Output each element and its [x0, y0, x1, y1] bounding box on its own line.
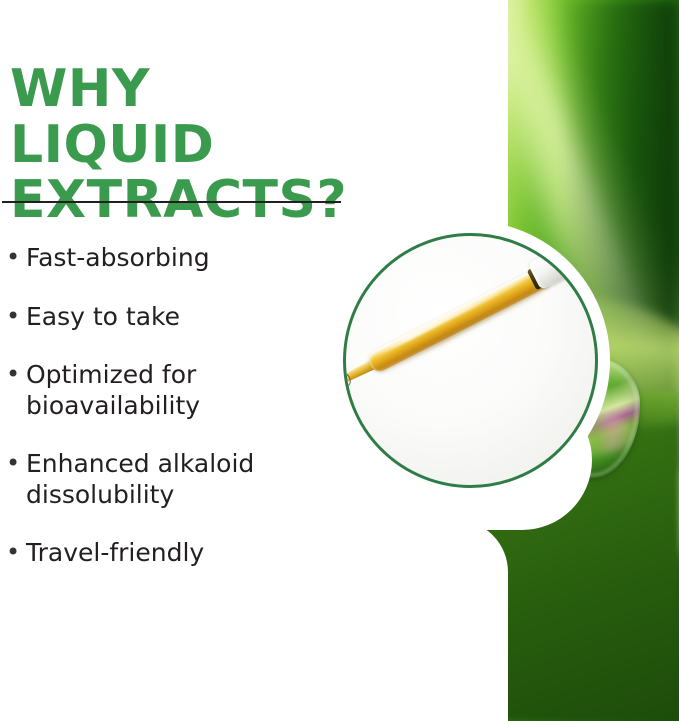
list-item-label: Optimized for bioavailability [26, 360, 356, 421]
list-item: • Optimized for bioavailability [6, 360, 356, 421]
page-title: Why Liquid Extracts? [10, 62, 360, 229]
title-divider [2, 201, 341, 203]
list-item-label: Travel-friendly [26, 538, 356, 569]
list-item: • Travel-friendly [6, 538, 356, 569]
list-item: • Easy to take [6, 302, 356, 333]
bullet-icon: • [6, 360, 26, 389]
bullet-icon: • [6, 449, 26, 478]
list-item-label: Easy to take [26, 302, 356, 333]
list-item-label: Fast-absorbing [26, 243, 356, 274]
bullet-icon: • [6, 302, 26, 331]
list-item: • Enhanced alkaloid dissolubility [6, 449, 356, 510]
bullet-icon: • [6, 243, 26, 272]
pipette-specular-highlight [375, 274, 531, 357]
infographic-canvas: Why Liquid Extracts? • Fast-absorbing • … [0, 0, 679, 721]
panel-notch-bottom [452, 520, 508, 721]
bullet-icon: • [6, 538, 26, 567]
benefits-list: • Fast-absorbing • Easy to take • Optimi… [6, 243, 356, 569]
glass-dropper-with-amber-liquid [361, 250, 568, 382]
list-item: • Fast-absorbing [6, 243, 356, 274]
pipette-underside-shadow [376, 287, 544, 377]
dropper-pipette-circle-inset [343, 233, 598, 488]
list-item-label: Enhanced alkaloid dissolubility [26, 449, 356, 510]
